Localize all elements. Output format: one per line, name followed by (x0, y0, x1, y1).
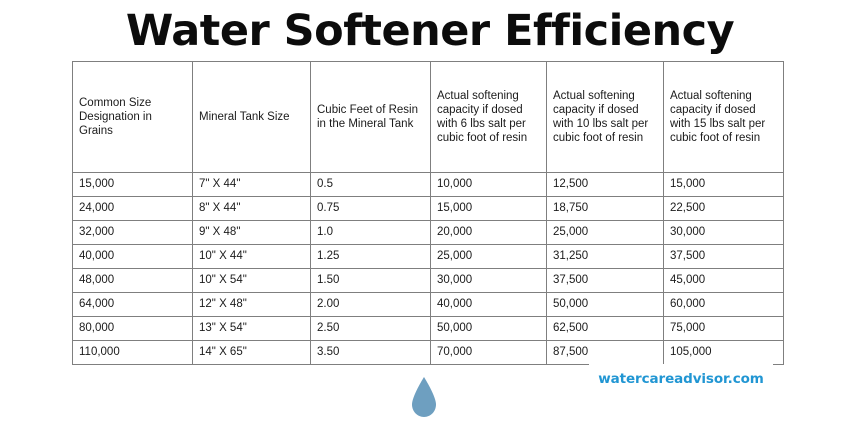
cell-capacity-15lbs: 45,000 (664, 269, 784, 293)
cell-capacity-10lbs: 12,500 (547, 173, 664, 197)
table-row: 80,000 13" X 54" 2.50 50,000 62,500 75,0… (73, 317, 784, 341)
cell-capacity-10lbs: 50,000 (547, 293, 664, 317)
cell-cubic-feet: 2.00 (311, 293, 431, 317)
water-softener-efficiency-table: Common Size Designation in Grains Minera… (72, 61, 784, 365)
cell-common-size: 40,000 (73, 245, 193, 269)
cell-capacity-10lbs: 25,000 (547, 221, 664, 245)
table-row: 64,000 12" X 48" 2.00 40,000 50,000 60,0… (73, 293, 784, 317)
column-header-cubic-feet-resin: Cubic Feet of Resin in the Mineral Tank (311, 62, 431, 173)
cell-cubic-feet: 1.0 (311, 221, 431, 245)
cell-capacity-6lbs: 40,000 (431, 293, 547, 317)
table-row: 15,000 7" X 44" 0.5 10,000 12,500 15,000 (73, 173, 784, 197)
table-row: 32,000 9" X 48" 1.0 20,000 25,000 30,000 (73, 221, 784, 245)
cell-tank-size: 12" X 48" (193, 293, 311, 317)
column-header-mineral-tank-size: Mineral Tank Size (193, 62, 311, 173)
site-logo[interactable]: watercareadvisor.com (567, 365, 795, 392)
cell-cubic-feet: 0.75 (311, 197, 431, 221)
cell-common-size: 64,000 (73, 293, 193, 317)
cell-capacity-10lbs: 31,250 (547, 245, 664, 269)
cell-capacity-6lbs: 25,000 (431, 245, 547, 269)
cell-common-size: 110,000 (73, 341, 193, 365)
cell-capacity-6lbs: 70,000 (431, 341, 547, 365)
cell-capacity-10lbs: 62,500 (547, 317, 664, 341)
cell-capacity-15lbs: 75,000 (664, 317, 784, 341)
cell-common-size: 15,000 (73, 173, 193, 197)
cell-common-size: 32,000 (73, 221, 193, 245)
column-header-capacity-15lbs: Actual softening capacity if dosed with … (664, 62, 784, 173)
table-row: 40,000 10" X 44" 1.25 25,000 31,250 37,5… (73, 245, 784, 269)
cell-capacity-6lbs: 10,000 (431, 173, 547, 197)
table-header-row: Common Size Designation in Grains Minera… (73, 62, 784, 173)
cell-tank-size: 10" X 44" (193, 245, 311, 269)
column-header-common-size: Common Size Designation in Grains (73, 62, 193, 173)
cell-cubic-feet: 3.50 (311, 341, 431, 365)
cell-capacity-6lbs: 30,000 (431, 269, 547, 293)
cell-cubic-feet: 0.5 (311, 173, 431, 197)
cell-capacity-6lbs: 15,000 (431, 197, 547, 221)
cell-cubic-feet: 2.50 (311, 317, 431, 341)
cell-capacity-15lbs: 105,000 (664, 341, 784, 365)
column-header-capacity-6lbs: Actual softening capacity if dosed with … (431, 62, 547, 173)
efficiency-table-container: Common Size Designation in Grains Minera… (72, 61, 783, 365)
cell-tank-size: 14" X 65" (193, 341, 311, 365)
cell-tank-size: 8" X 44" (193, 197, 311, 221)
cell-tank-size: 13" X 54" (193, 317, 311, 341)
cell-tank-size: 10" X 54" (193, 269, 311, 293)
cell-capacity-15lbs: 22,500 (664, 197, 784, 221)
cell-common-size: 80,000 (73, 317, 193, 341)
cell-cubic-feet: 1.25 (311, 245, 431, 269)
cell-capacity-15lbs: 60,000 (664, 293, 784, 317)
water-drop-icon (409, 376, 439, 418)
table-row: 24,000 8" X 44" 0.75 15,000 18,750 22,50… (73, 197, 784, 221)
cell-tank-size: 7" X 44" (193, 173, 311, 197)
cell-capacity-15lbs: 37,500 (664, 245, 784, 269)
table-row: 110,000 14" X 65" 3.50 70,000 87,500 105… (73, 341, 784, 365)
column-header-capacity-10lbs: Actual softening capacity if dosed with … (547, 62, 664, 173)
cell-capacity-10lbs: 18,750 (547, 197, 664, 221)
cell-common-size: 48,000 (73, 269, 193, 293)
page-title: Water Softener Efficiency (0, 6, 860, 56)
logo-text: watercareadvisor.com (567, 365, 795, 392)
cell-common-size: 24,000 (73, 197, 193, 221)
cell-capacity-10lbs: 87,500 (547, 341, 664, 365)
table-row: 48,000 10" X 54" 1.50 30,000 37,500 45,0… (73, 269, 784, 293)
cell-capacity-10lbs: 37,500 (547, 269, 664, 293)
cell-tank-size: 9" X 48" (193, 221, 311, 245)
cell-cubic-feet: 1.50 (311, 269, 431, 293)
cell-capacity-6lbs: 20,000 (431, 221, 547, 245)
cell-capacity-6lbs: 50,000 (431, 317, 547, 341)
cell-capacity-15lbs: 15,000 (664, 173, 784, 197)
cell-capacity-15lbs: 30,000 (664, 221, 784, 245)
